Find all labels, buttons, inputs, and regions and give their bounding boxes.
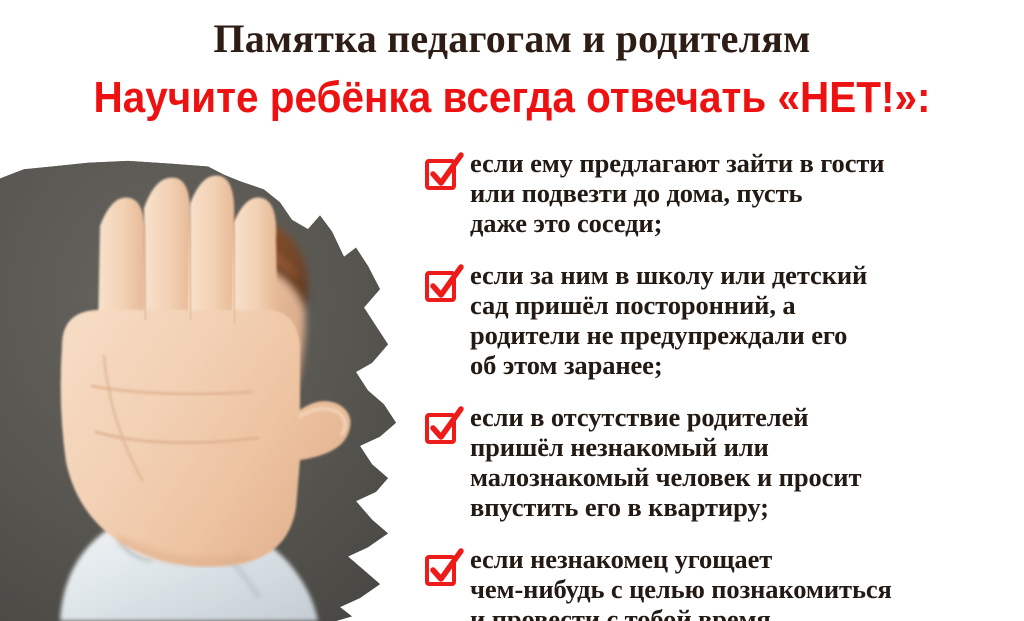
photo-torn-edge-clip bbox=[0, 160, 400, 621]
checkbox-checked-icon bbox=[424, 408, 462, 446]
list-item: если незнакомец угощает чем-нибудь с цел… bbox=[424, 544, 1020, 621]
checkbox-checked-icon bbox=[424, 550, 462, 588]
checkbox-checked-glyph bbox=[424, 154, 462, 192]
poster-root: Памятка педагогам и родителям Научите ре… bbox=[0, 0, 1024, 621]
photo-illustration bbox=[0, 160, 400, 621]
list-item-text: если незнакомец угощает чем-нибудь с цел… bbox=[470, 544, 1020, 621]
list-item: если в отсутствие родителей пришёл незна… bbox=[424, 402, 1020, 522]
photo-boy-stop-gesture bbox=[0, 160, 400, 621]
list-item-text: если в отсутствие родителей пришёл незна… bbox=[470, 402, 1020, 522]
advice-list: если ему предлагают зайти в гости или по… bbox=[424, 148, 1020, 621]
list-item: если ему предлагают зайти в гости или по… bbox=[424, 148, 1020, 238]
checkbox-checked-icon bbox=[424, 266, 462, 304]
list-item: если за ним в школу или детский сад приш… bbox=[424, 260, 1020, 380]
list-item-text: если ему предлагают зайти в гости или по… bbox=[470, 148, 1020, 238]
page-title-primary: Памятка педагогам и родителям bbox=[0, 16, 1024, 62]
checkbox-checked-icon bbox=[424, 154, 462, 192]
list-item-text: если за ним в школу или детский сад приш… bbox=[470, 260, 1020, 380]
checkbox-checked-glyph bbox=[424, 550, 462, 588]
checkbox-checked-glyph bbox=[424, 408, 462, 446]
page-title-secondary: Научите ребёнка всегда отвечать «НЕТ!»: bbox=[41, 72, 983, 124]
checkbox-checked-glyph bbox=[424, 266, 462, 304]
